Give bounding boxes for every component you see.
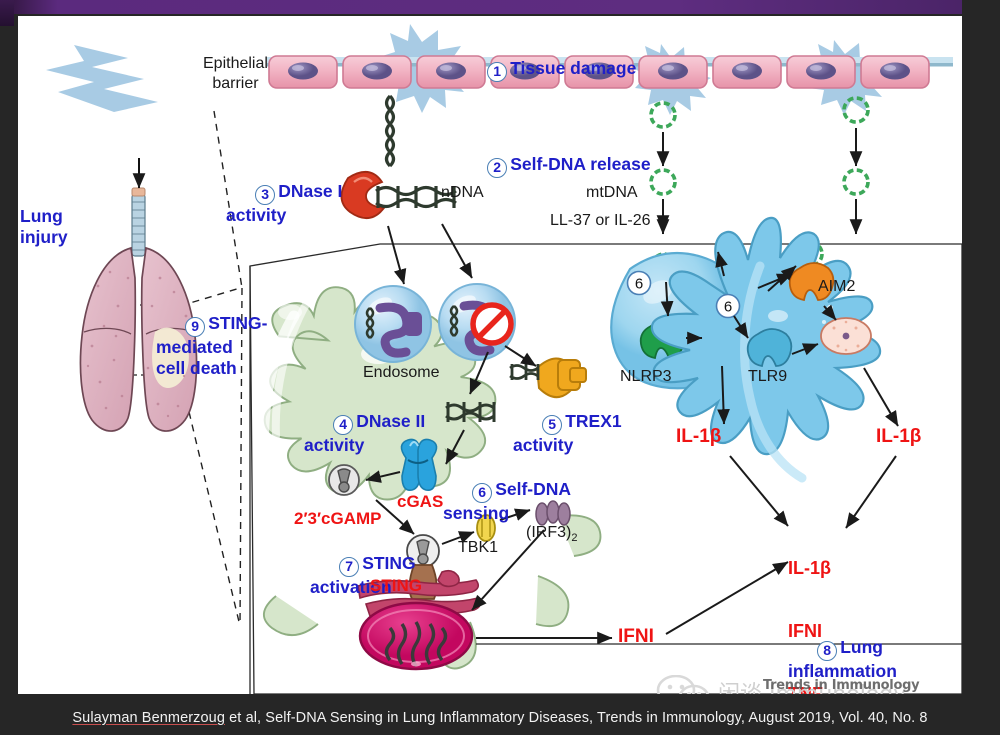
step-4-number: 4 [333,415,353,435]
step-4-label: DNase II activity [304,411,425,455]
step-1-tissue-damage: 1Tissue damage [458,38,636,102]
endosome-2 [439,284,515,360]
figure-caption: Sulayman Benmerzoug et al, Self-DNA Sens… [0,702,1000,735]
step-6-label: Self-DNA sensing [443,479,571,523]
step-4-dnase-ii: 4DNase II activity [304,390,425,477]
sting-label: STING [370,576,422,596]
step-7-number: 7 [339,557,359,577]
mtdna-label: mtDNA [586,184,638,202]
left-accent-edge [0,0,14,26]
screenshot-root: 6 6 [0,0,1000,735]
step-3-label: DNase I activity [226,181,342,225]
step-8-label: Lung inflammation [788,637,897,681]
step-2-number: 2 [487,158,507,178]
step-9-sting-mediated-cell-death: 9STING- mediated cell death [156,292,268,400]
step-9-label: STING- mediated cell death [156,313,268,378]
svg-text:6: 6 [635,276,643,293]
figure-canvas: 6 6 [18,16,962,694]
cgamp-label: 2′3′cGAMP [294,509,382,529]
aim2-label: AIM2 [818,278,855,296]
lung-injury-label: Lung injury [20,206,68,248]
sensor-badge-nlrp3: 6 [628,272,651,295]
sensor-badge-dendritic: 6 [717,295,740,318]
ll37-il26-label: LL-37 or IL-26 [550,212,651,230]
nlrp3-label: NLRP3 [620,368,672,386]
lightning-bolt-icon [46,45,158,112]
endosome-label: Endosome [363,364,440,382]
step-3-number: 3 [255,185,275,205]
ndna-label: nDNA [441,184,484,202]
tbk1-label: TBK1 [458,539,498,557]
tlr9-label: TLR9 [748,368,787,386]
dendritic-nucleus-icon [821,318,871,354]
wechat-logo-icon [656,675,710,694]
ndna-helix-icon [387,96,394,166]
il1b-right-label: IL-1β [876,426,921,448]
inhibition-prohibited-icon [473,305,511,343]
irf3-subscript: 2 [571,532,577,544]
step-9-number: 9 [185,317,205,337]
step-3-dnase-i: 3DNase I activity [226,160,342,247]
step-1-label: Tissue damage [510,58,636,78]
step-5-label: TREX1 activity [513,411,622,455]
step-6-number: 6 [472,483,492,503]
step-1-number: 1 [487,62,507,82]
step-5-number: 5 [542,415,562,435]
top-accent-bar [0,0,962,14]
irf3-label: (IRF3)2 [526,524,577,544]
svg-text:6: 6 [724,299,732,316]
step-2-label: Self-DNA release [510,154,650,174]
step-8-number: 8 [817,641,837,661]
cytokine-item: IL-1β [788,558,831,579]
il1b-left-label: IL-1β [676,426,721,448]
caption-rest: et al, Self-DNA Sensing in Lung Inflamma… [225,710,928,726]
irf3-text: (IRF3) [526,524,571,541]
epithelial-barrier-label: Epithelial barrier [203,54,268,94]
cgas-label: cGAS [397,492,443,512]
journal-watermark: Trends in Immunology [763,678,919,693]
endosome-1 [355,286,431,362]
ifni-bottom-label: IFNI [618,626,654,648]
caption-author: Sulayman Benmerzoug [72,710,225,726]
